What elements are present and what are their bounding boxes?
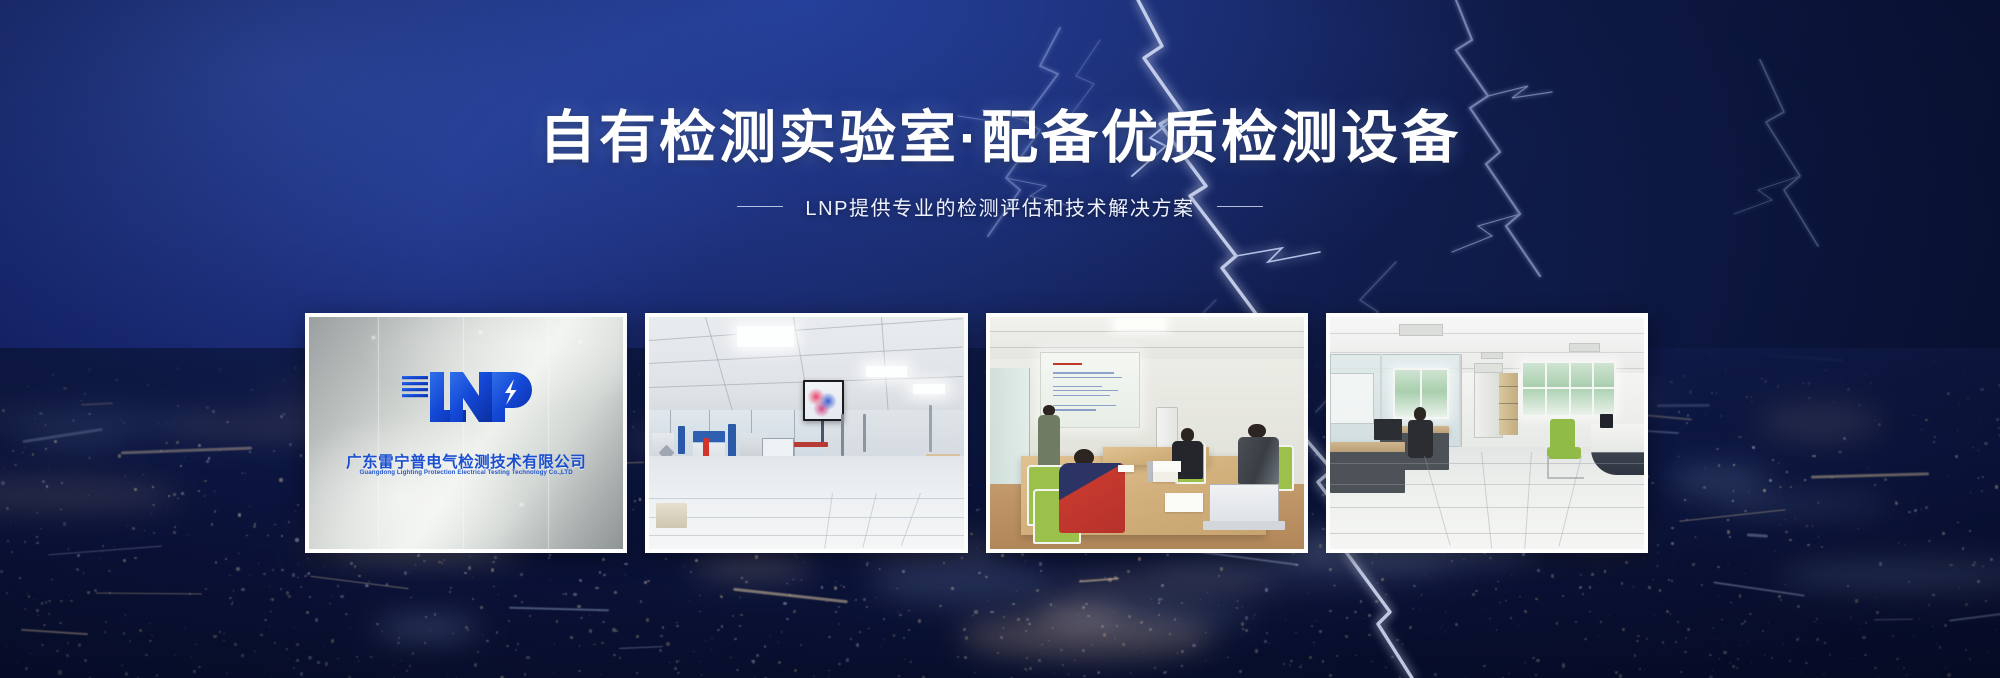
office-desk-front-body <box>1330 452 1405 494</box>
slide-heading <box>1053 363 1083 365</box>
glass-partition-panel <box>1330 373 1374 424</box>
lnp-logo <box>400 368 532 424</box>
gallery-card-office[interactable] <box>1326 313 1648 553</box>
page-subtitle: LNP提供专业的检测评估和技术解决方案 <box>805 192 1194 221</box>
document-paper <box>1165 493 1203 512</box>
ceiling-panel-light <box>737 326 794 347</box>
floor-tile-line <box>649 498 963 499</box>
floor-tile-line <box>1330 484 1644 485</box>
slide-text-line <box>1053 405 1116 406</box>
ceiling-fixture-dot <box>479 331 482 334</box>
photo-gallery: 广东雷宁普电气检测技术有限公司 Guangdong Lighting Prote… <box>305 313 1648 553</box>
shelf-divider <box>1499 386 1518 387</box>
floor-tile-line <box>1330 463 1644 464</box>
gallery-card-meeting-room[interactable] <box>986 313 1308 553</box>
ceiling-grid-line <box>1330 333 1644 334</box>
wall-mounted-tv <box>803 380 844 422</box>
chair-frame-base <box>1547 477 1585 479</box>
person-body <box>1408 420 1433 459</box>
window-mullion <box>1545 363 1547 415</box>
ceiling-air-vent <box>1399 324 1443 336</box>
test-equipment-column <box>678 426 686 454</box>
partition-mullion <box>1459 354 1461 447</box>
photo-office <box>1330 317 1644 549</box>
tv-mount-arm <box>821 421 824 442</box>
person-body <box>1038 415 1060 470</box>
ceiling-grid-line <box>990 331 1304 332</box>
shelf-divider <box>1499 419 1518 420</box>
partition-post <box>863 414 866 451</box>
gallery-card-company-sign[interactable]: 广东雷宁普电气检测技术有限公司 Guangdong Lighting Prote… <box>305 313 627 553</box>
hero-banner: 自有检测实验室·配备优质检测设备 LNP提供专业的检测评估和技术解决方案 <box>0 0 2000 678</box>
wall-pane-seam <box>378 317 379 549</box>
photo-testing-lab <box>649 317 963 549</box>
ceiling-panel-light <box>1115 319 1165 328</box>
subtitle-row: LNP提供专业的检测评估和技术解决方案 <box>0 192 2000 221</box>
partition-post <box>929 405 932 451</box>
photo-company-sign: 广东雷宁普电气检测技术有限公司 Guangdong Lighting Prote… <box>309 317 623 549</box>
person-head <box>1181 428 1195 441</box>
person-body <box>1059 463 1125 532</box>
attendee-person-front <box>1059 449 1125 533</box>
laptop-keyboard <box>1203 521 1285 530</box>
page-title: 自有检测实验室·配备优质检测设备 <box>0 108 2000 170</box>
slide-text-line <box>1053 395 1110 396</box>
wooden-shelf-unit <box>1499 373 1518 436</box>
window-transom <box>1523 387 1613 389</box>
document-paper <box>1153 461 1181 473</box>
rule-left-decoration <box>737 206 783 207</box>
window-mullion <box>1592 363 1594 415</box>
photo-meeting-room <box>990 317 1304 549</box>
partition-post <box>841 414 844 456</box>
chair-frame-leg <box>1547 456 1549 479</box>
ceiling-panel-light <box>866 366 907 378</box>
window-mullion <box>1569 363 1571 415</box>
person-body <box>1238 437 1279 484</box>
slide-text-line <box>1053 386 1102 387</box>
wall-pane-seam <box>548 317 549 549</box>
lnp-logo-mark <box>400 368 532 424</box>
tv-screen-content <box>805 382 842 420</box>
rule-right-decoration <box>1217 206 1263 207</box>
laptop-screen <box>1209 484 1278 523</box>
ceiling-grid-line <box>990 347 1304 348</box>
cabinet-top-unit <box>1474 363 1502 372</box>
headline-block: 自有检测实验室·配备优质检测设备 LNP提供专业的检测评估和技术解决方案 <box>0 108 2000 221</box>
counter-equipment <box>1600 414 1613 428</box>
document-paper <box>1153 472 1178 481</box>
ceiling-fixture-dot <box>372 336 375 339</box>
floor-tile-line <box>649 535 963 536</box>
floor-tile-line <box>649 517 963 518</box>
desktop-monitor <box>1374 419 1402 440</box>
ceiling-air-vent <box>1481 352 1503 359</box>
shelf-divider <box>1499 403 1518 404</box>
slide-text-line <box>1053 377 1122 378</box>
floor-tile-line <box>1330 533 1644 534</box>
document-paper <box>1118 465 1134 472</box>
slide-text-line <box>1053 372 1114 373</box>
floor-reflection-dot <box>520 503 523 506</box>
reception-counter <box>1591 424 1644 475</box>
wooden-stand <box>656 503 687 529</box>
gallery-card-testing-lab[interactable] <box>645 313 967 553</box>
ceiling-air-vent <box>1569 343 1600 352</box>
ceiling-panel-light <box>913 384 944 393</box>
person-head <box>1414 407 1427 420</box>
office-worker <box>1408 407 1433 458</box>
visitor-chair-seat <box>1547 447 1582 459</box>
glass-sheen <box>309 317 623 549</box>
tall-storage-cabinet <box>1474 368 1502 438</box>
person-head <box>1043 405 1055 415</box>
sign-text-english: Guangdong Lighting Protection Electrical… <box>359 469 572 476</box>
slide-text-line <box>1053 390 1118 391</box>
office-window-right <box>1521 361 1615 417</box>
wall-pane-seam <box>463 317 464 549</box>
attendee-person-right <box>1238 424 1279 484</box>
